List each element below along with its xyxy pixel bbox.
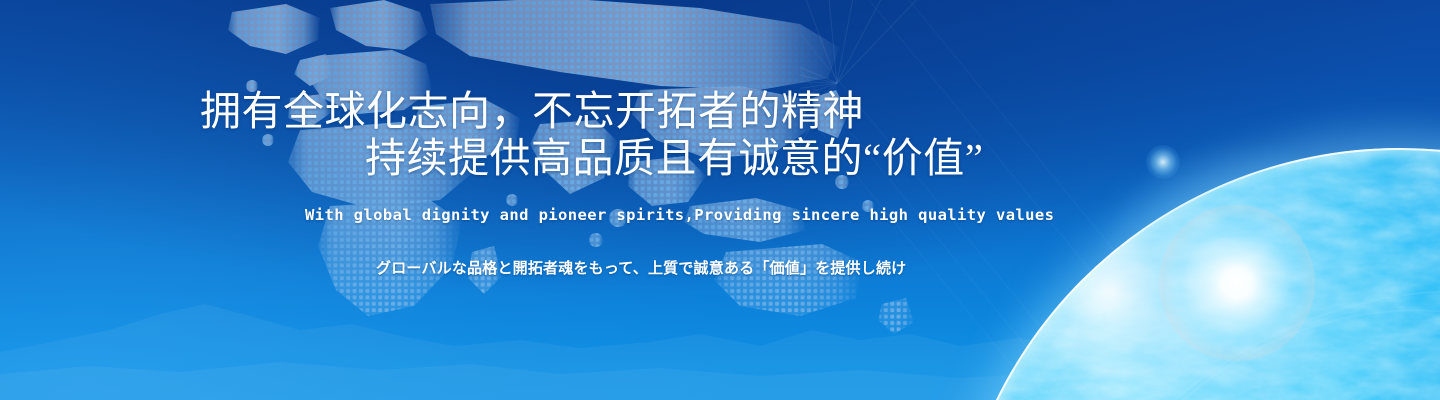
headline: 拥有全球化志向，不忘开拓者的精神 持续提供高品质且有诚意的“价值” <box>200 88 983 182</box>
subline-japanese: グローバルな品格と開拓者魂をもって、上質で誠意ある「価値」を提供し続け <box>376 257 906 278</box>
headline-line-1: 拥有全球化志向，不忘开拓者的精神 <box>200 88 864 134</box>
headline-line-2: 持续提供高品质且有诚意的“价值” <box>200 135 983 182</box>
banner-copy: 拥有全球化志向，不忘开拓者的精神 持续提供高品质且有诚意的“价值” With g… <box>0 0 1100 400</box>
hero-banner: 拥有全球化志向，不忘开拓者的精神 持续提供高品质且有诚意的“价值” With g… <box>0 0 1440 400</box>
subline-english: With global dignity and pioneer spirits,… <box>305 206 1054 224</box>
